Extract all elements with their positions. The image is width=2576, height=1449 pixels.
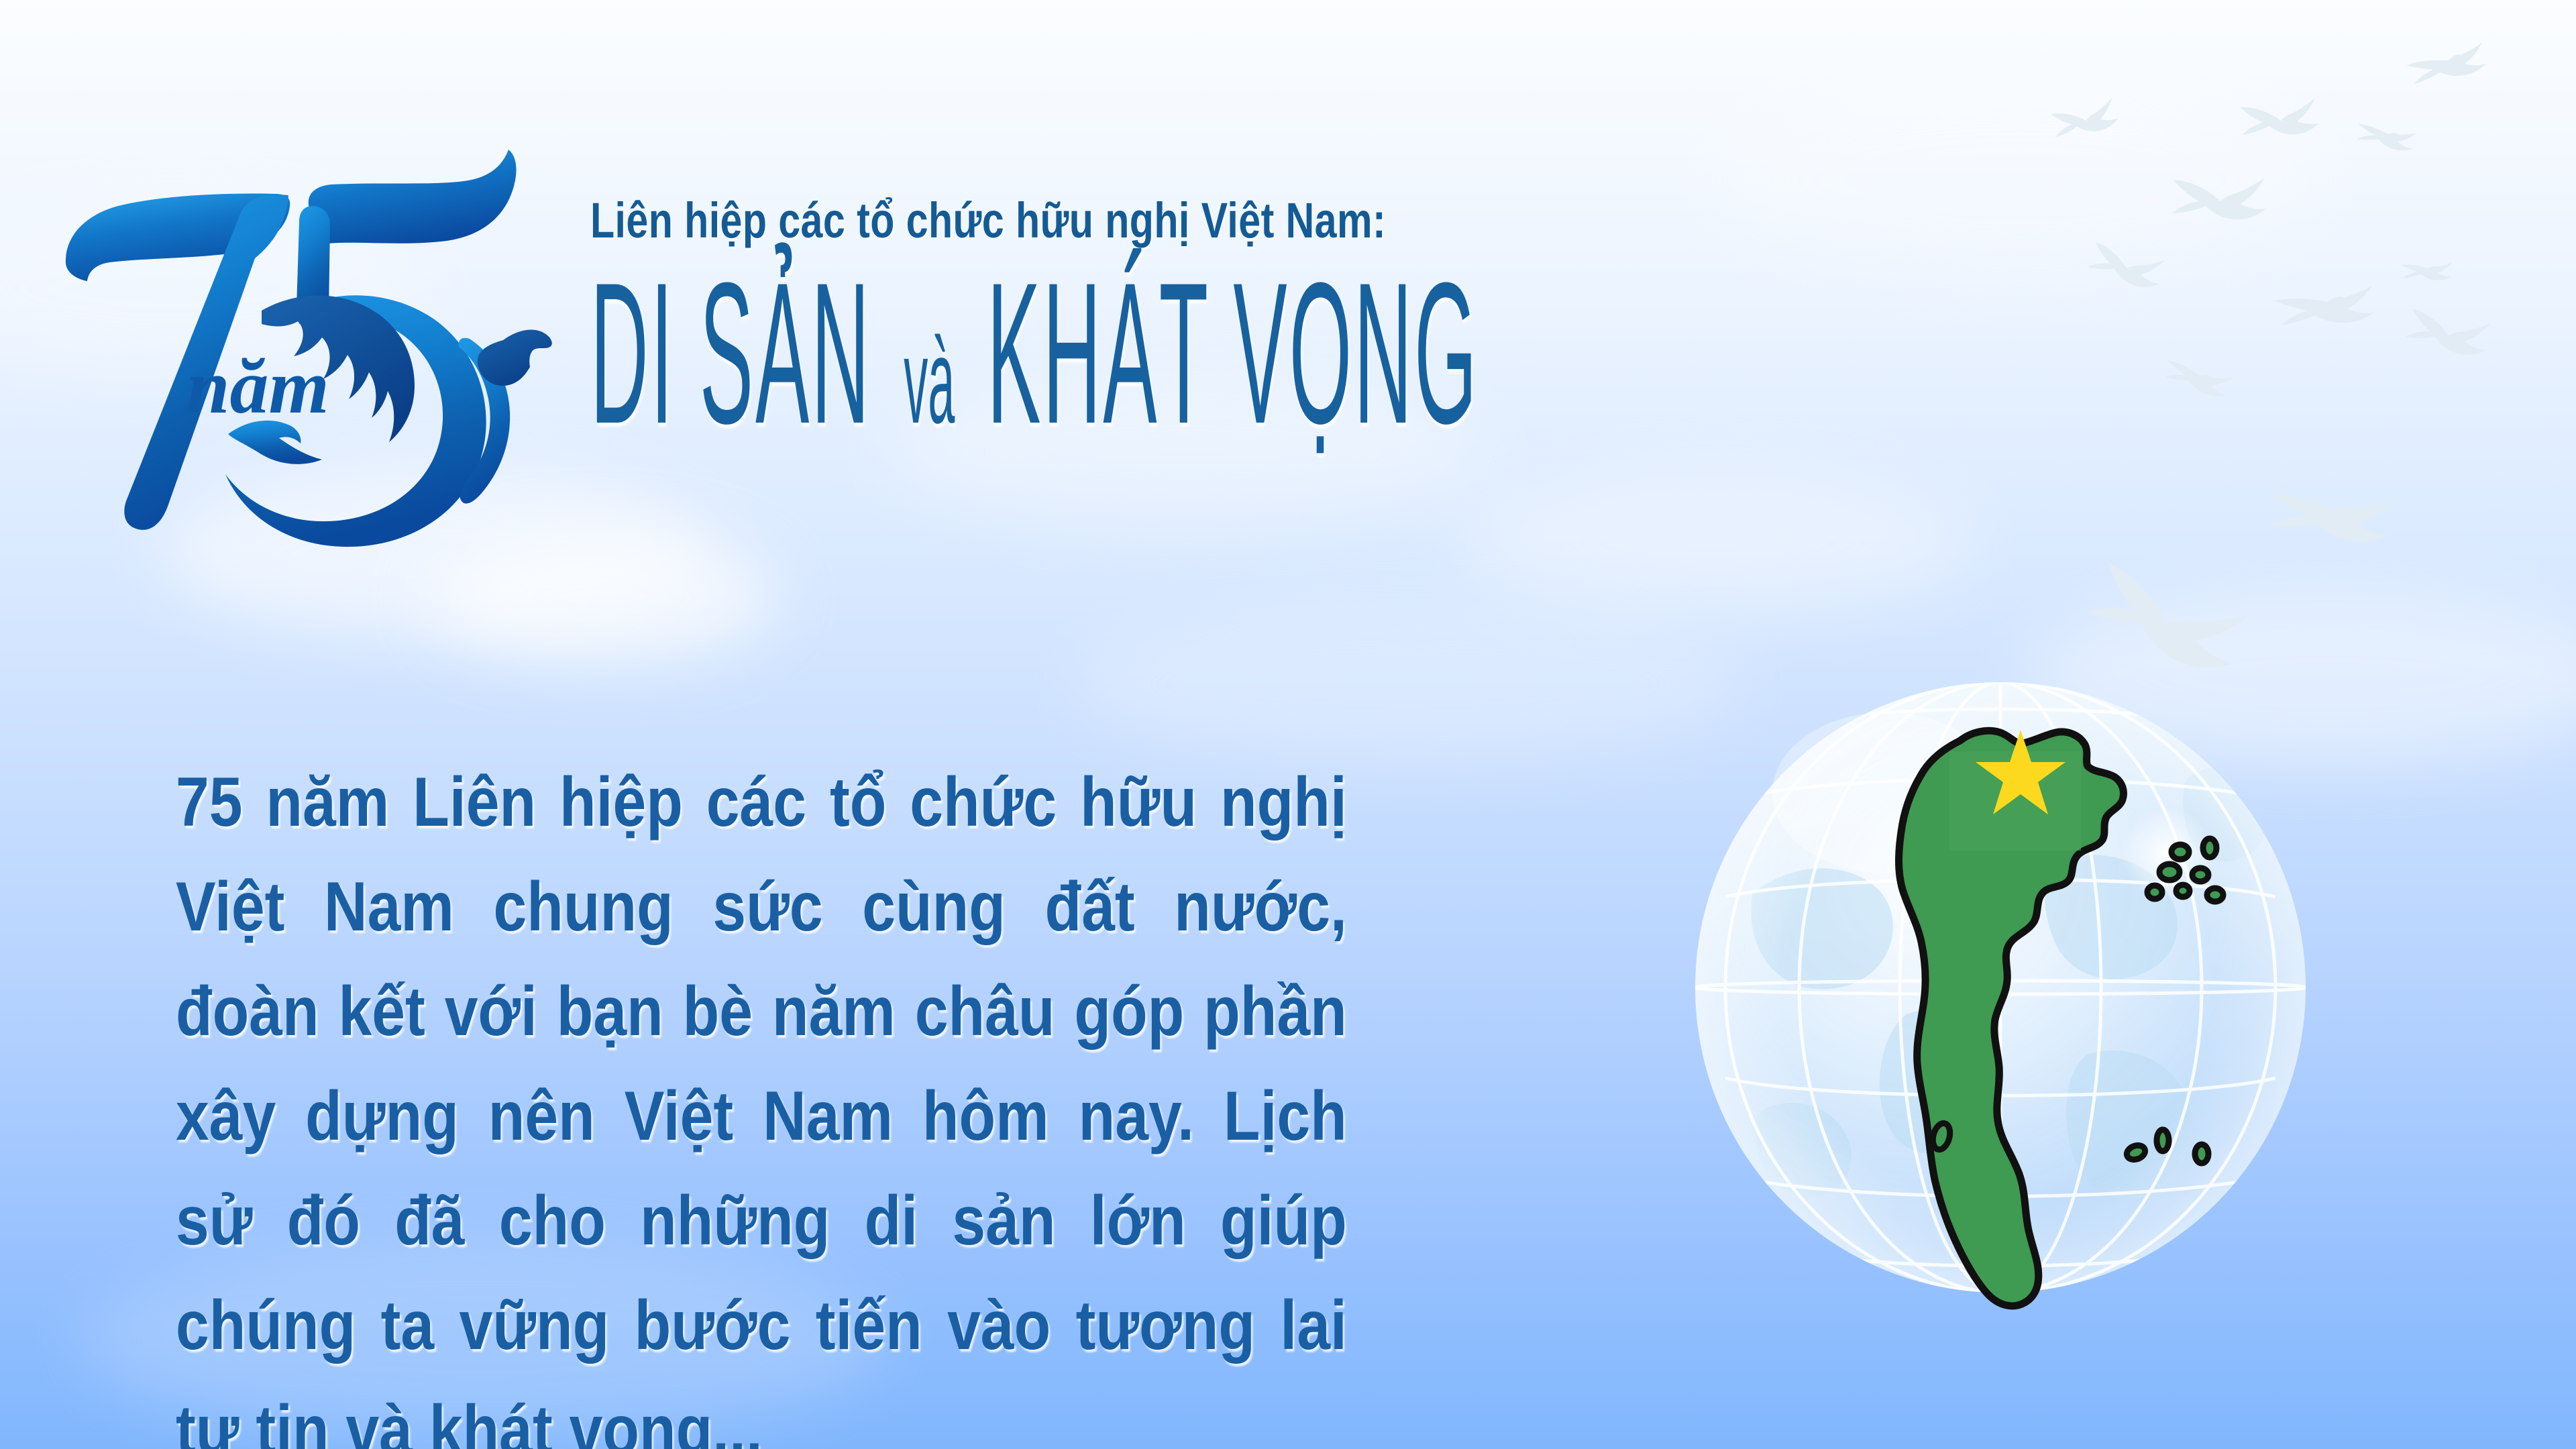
globe-vietnam-graphic — [1685, 639, 2316, 1336]
anniversary-75-logo: năm — [60, 131, 557, 560]
main-title: DI SẢNvàKHÁT VỌNG — [590, 264, 1261, 441]
logo-dove-head-icon — [478, 330, 552, 386]
body-paragraph: 75 năm Liên hiệp các tổ chức hữu nghị Vi… — [176, 750, 1347, 1449]
title-connector: và — [904, 314, 955, 449]
poster-canvas: năm Liên hiệp các tổ chức hữu nghị Việt … — [0, 0, 2576, 1449]
title-part-1: DI SẢN — [590, 240, 871, 466]
title-part-2: KHÁT VỌNG — [987, 240, 1479, 466]
cloud-wisp — [1073, 604, 1744, 765]
cloud-wisp — [1462, 470, 1972, 617]
subtitle-text: Liên hiệp các tổ chức hữu nghị Việt Nam: — [590, 195, 1932, 247]
logo-five-flag — [309, 150, 517, 244]
globe-specular-highlight — [2120, 806, 2214, 900]
logo-nam-text: năm — [186, 344, 329, 430]
heading-block: Liên hiệp các tổ chức hữu nghị Việt Nam:… — [590, 195, 2267, 441]
